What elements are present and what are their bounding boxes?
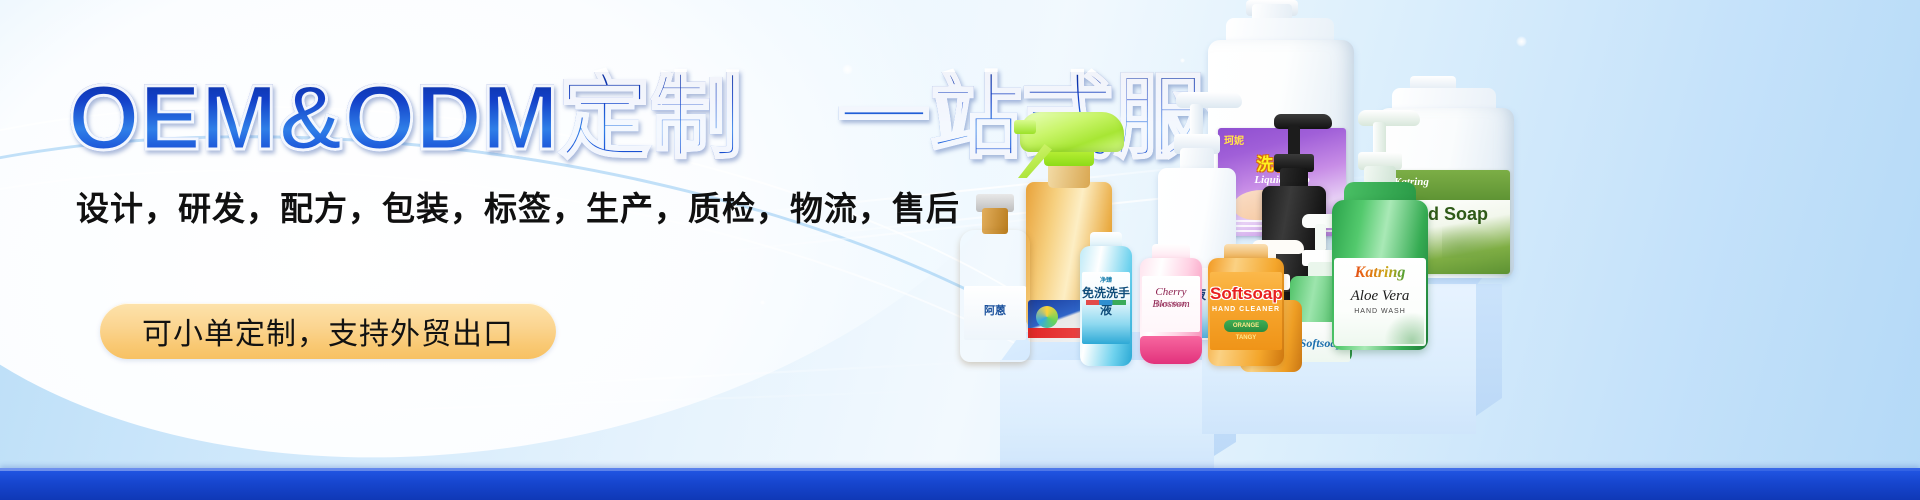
softsoap-orange-name: Softsoap: [1210, 284, 1282, 304]
spray-label-emblem-icon: [1036, 306, 1058, 328]
spray-nozzle: [1014, 120, 1036, 134]
aloe-plant-icon: [1384, 312, 1424, 344]
pedestal-right-side: [1476, 284, 1502, 416]
aloe-label: Katring Aloe Vera HAND WASH: [1334, 258, 1426, 346]
cherry-sub: Hand Wash: [1142, 302, 1200, 308]
aloe-brand: Katring: [1334, 264, 1426, 282]
pump-white-head: [1176, 92, 1242, 108]
softsoap-orange-label: Softsoap HAND CLEANER ORANGE TANGY: [1210, 272, 1282, 350]
bottom-accent-strip: [0, 468, 1920, 500]
sparkle-4: [598, 176, 603, 181]
jug-purple-brand: 珂妮: [1224, 132, 1244, 147]
cherry-label: Cherry Blossom Hand Wash: [1142, 276, 1200, 332]
cyan-brand: 净臻: [1082, 275, 1130, 284]
amber-name-cn: 阿蒽: [964, 302, 1026, 318]
cyan-colorbar: [1086, 300, 1126, 305]
aloe-name-en: Aloe Vera: [1334, 288, 1426, 305]
aloe-pump-stem: [1373, 122, 1386, 156]
sparkle-6: [760, 300, 765, 305]
banner-subtitle: 设计，研发，配方，包装，标签，生产，质检，物流，售后: [76, 182, 960, 230]
softsoap-orange-flavor: ORANGE TANGY: [1224, 320, 1268, 344]
amber-label: 阿蒽: [964, 286, 1026, 340]
promo-banner: OEM&ODM定制 一站式服务 设计，研发，配方，包装，标签，生产，质检，物流，…: [0, 0, 1920, 500]
custom-order-badge-label: 可小单定制，支持外贸出口: [142, 309, 514, 353]
headline-part-1: OEM&ODM定制: [68, 67, 743, 169]
custom-order-badge[interactable]: 可小单定制，支持外贸出口: [100, 303, 556, 359]
bottom-strip-highlight: [0, 468, 1920, 471]
pump-black-head: [1274, 114, 1332, 129]
product-showcase: 珂妮 洗手液 Liquid Soap Katring Hand Soap Net…: [940, 0, 1920, 500]
softsoap-green-stem: [1315, 224, 1326, 252]
sparkle-5: [470, 262, 475, 267]
aloe-pump-head: [1358, 110, 1420, 126]
pedestal-left-front: [1000, 360, 1214, 472]
softsoap-orange-sub: HAND CLEANER: [1210, 306, 1282, 313]
aloe-leaf-icon: [1442, 224, 1500, 258]
softsoap-orange-flavor-pill: ORANGE TANGY: [1224, 320, 1268, 332]
cyan-label: 净臻 免洗洗手液: [1082, 272, 1130, 344]
cherry-base: [1140, 336, 1202, 364]
